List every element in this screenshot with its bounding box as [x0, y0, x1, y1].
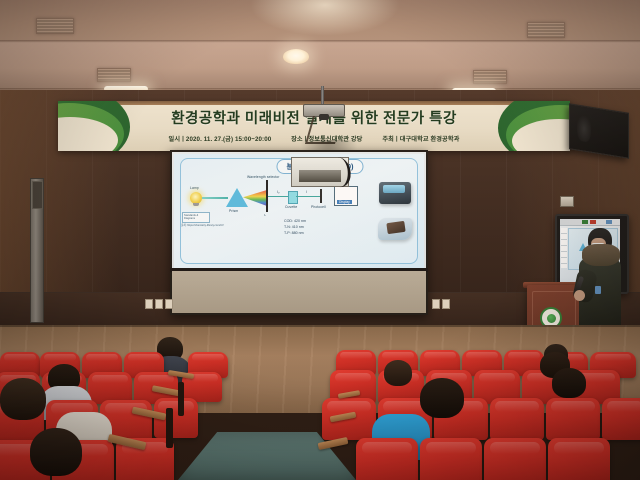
seat — [546, 398, 600, 440]
wall-plate-icon — [442, 299, 450, 309]
slide-label-lambda: λ — [264, 213, 266, 217]
stage-edge-line — [0, 325, 640, 327]
seat — [420, 438, 482, 480]
banner-host: 주최ㅣ대구대학교 환경공학과 — [382, 136, 459, 143]
audience-head — [384, 360, 412, 386]
light-beam — [202, 197, 228, 199]
wall-fixture — [560, 196, 574, 207]
beam-segment — [296, 196, 320, 197]
air-vent-icon — [527, 22, 565, 38]
seat-gap — [178, 382, 184, 416]
slide-source-box: Standards & Diagrams — [182, 212, 210, 223]
presenter-hand — [574, 290, 585, 301]
audience-head — [30, 428, 82, 476]
beam-segment — [268, 196, 288, 197]
slide-source-url: 출처: https://chemistry-library.com/UV — [181, 223, 224, 227]
seat — [356, 438, 418, 480]
measurement-item: T-P: 880 nm — [284, 230, 306, 236]
slide-photo-instrument — [379, 182, 411, 204]
cuvette-icon — [288, 191, 298, 204]
monitor-slide-thumbnails — [561, 228, 567, 268]
seat — [484, 438, 546, 480]
projector-mount-rod — [321, 86, 324, 105]
column-speaker — [30, 178, 44, 323]
slide-measurement-list: COD: 420 nm T-N: 410 nm T-P: 880 nm — [284, 218, 306, 236]
presenter-hood — [582, 244, 620, 266]
slide-label-beam-out: I — [306, 190, 307, 194]
presenter-badge — [595, 286, 601, 294]
slide-label-cuvette: Cuvette — [285, 205, 297, 209]
air-vent-icon — [97, 68, 131, 82]
slide-label-prism: Prism — [229, 209, 238, 213]
seat — [490, 398, 544, 440]
slide-photo-device — [378, 218, 412, 240]
banner-date: 일시ㅣ2020. 11. 27.(금) 15:00~20:00 — [169, 136, 272, 143]
air-vent-icon — [36, 18, 74, 34]
slide-label-display: Display — [337, 200, 352, 204]
monitor-app-ribbon — [560, 219, 620, 226]
seat — [602, 398, 640, 440]
pa-speaker — [569, 103, 629, 159]
air-vent-icon — [473, 70, 507, 84]
slide-label-beam-in: I₀ — [277, 190, 280, 194]
ceiling-near-section — [0, 42, 640, 90]
wall-plate-icon — [155, 299, 163, 309]
slide-label-photocell: Photocell — [311, 205, 326, 209]
slide-label-lamp: Lamp — [190, 186, 199, 190]
audience-head — [552, 368, 586, 398]
ceiling-seam — [0, 40, 640, 43]
seat-gap — [166, 408, 173, 448]
lecture-hall-photo: 환경공학과 미래비전 설계를 위한 전문가 특강 일시ㅣ2020. 11. 27… — [0, 0, 640, 480]
screen-lower-skirt — [172, 271, 426, 313]
ceiling-downlight — [283, 49, 309, 64]
seat — [548, 438, 610, 480]
slide-label-wavelength-selector: Wavelength selector — [247, 175, 280, 179]
wall-plate-icon — [432, 299, 440, 309]
wall-plate-icon — [145, 299, 153, 309]
photocell-icon — [320, 189, 322, 203]
audience-head — [0, 378, 46, 420]
wall-plate-icon — [165, 299, 173, 309]
lamp-icon — [190, 192, 202, 204]
audience-head — [420, 378, 464, 418]
display-icon: Display — [334, 186, 358, 206]
